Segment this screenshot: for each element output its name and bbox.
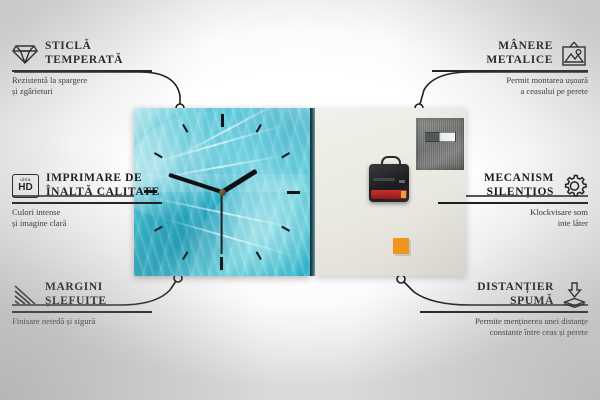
callout-high-quality-print: ultra HD IMPRIMARE DEÎNALTĂ CALITATE Cul… (12, 172, 162, 229)
callout-polished-edges: MARGINIȘLEFUITE Finisare netedă și sigur… (12, 281, 152, 327)
callout-subtitle: Culori intenseși imagine clară (12, 207, 162, 229)
clock-tick (154, 191, 223, 232)
callout-metal-handles: MÂNEREMETALICE Permit montarea ușoarăa c… (432, 40, 588, 97)
press-down-pad-icon (561, 281, 588, 308)
callout-tempered-glass: STICLĂTEMPERATĂ Rezistentă la spargereși… (12, 40, 152, 97)
metal-hanger-plate (416, 118, 464, 170)
clock-center-cap (219, 189, 226, 196)
diamond-icon (12, 43, 38, 65)
callout-subtitle: Permite menținerea unei distanțeconstant… (420, 316, 588, 338)
callout-header: DISTANȚIERSPUMĂ (420, 281, 588, 308)
callout-subtitle: Rezistentă la spargereși zgârieturi (12, 75, 152, 97)
ultra-hd-icon: ultra HD (12, 174, 39, 198)
callout-divider (12, 311, 152, 313)
callout-divider (12, 202, 162, 204)
battery (371, 190, 407, 199)
callout-foam-spacer: DISTANȚIERSPUMĂ Permite menținerea unei … (420, 281, 588, 338)
clock-mechanism (369, 164, 409, 202)
clock-tick (221, 114, 223, 192)
foam-spacer (393, 238, 409, 254)
callout-subtitle: Finisare netedă și sigură (12, 316, 152, 327)
callout-header: STICLĂTEMPERATĂ (12, 40, 152, 67)
callout-title: MARGINIȘLEFUITE (45, 281, 107, 308)
callout-divider (12, 70, 152, 72)
callout-title: STICLĂTEMPERATĂ (45, 40, 123, 67)
mechanism-detail (373, 178, 395, 181)
gear-icon (561, 173, 588, 199)
hanger-slot (424, 132, 456, 142)
battery-terminal (401, 191, 406, 198)
ultra-hd-large-text: HD (18, 183, 32, 193)
callout-title: DISTANȚIERSPUMĂ (477, 281, 554, 308)
picture-frame-icon (560, 41, 588, 67)
callout-divider (420, 311, 588, 313)
mechanism-detail (399, 180, 405, 183)
callout-silent-mechanism: MECANISMSILENȚIOS Klockvisare sominte lå… (438, 172, 588, 229)
callout-title: MÂNEREMETALICE (486, 40, 553, 67)
infographic-canvas: STICLĂTEMPERATĂ Rezistentă la spargereși… (0, 0, 600, 400)
callout-divider (438, 202, 588, 204)
beveled-edge-icon (12, 284, 38, 306)
endpoint-dot-spacer (397, 275, 405, 283)
clock-second-hand (221, 192, 223, 254)
clock-tick (222, 191, 300, 193)
callout-title: IMPRIMARE DEÎNALTĂ CALITATE (46, 172, 160, 199)
callout-header: MECANISMSILENȚIOS (438, 172, 588, 199)
product-image (134, 108, 466, 276)
callout-header: MÂNEREMETALICE (432, 40, 588, 67)
callout-title: MECANISMSILENȚIOS (484, 172, 554, 199)
callout-subtitle: Permit montarea ușoarăa ceasului pe pere… (432, 75, 588, 97)
callout-header: MARGINIȘLEFUITE (12, 281, 152, 308)
callout-header: ultra HD IMPRIMARE DEÎNALTĂ CALITATE (12, 172, 162, 199)
callout-divider (432, 70, 588, 72)
callout-subtitle: Klockvisare sominte låter (438, 207, 588, 229)
